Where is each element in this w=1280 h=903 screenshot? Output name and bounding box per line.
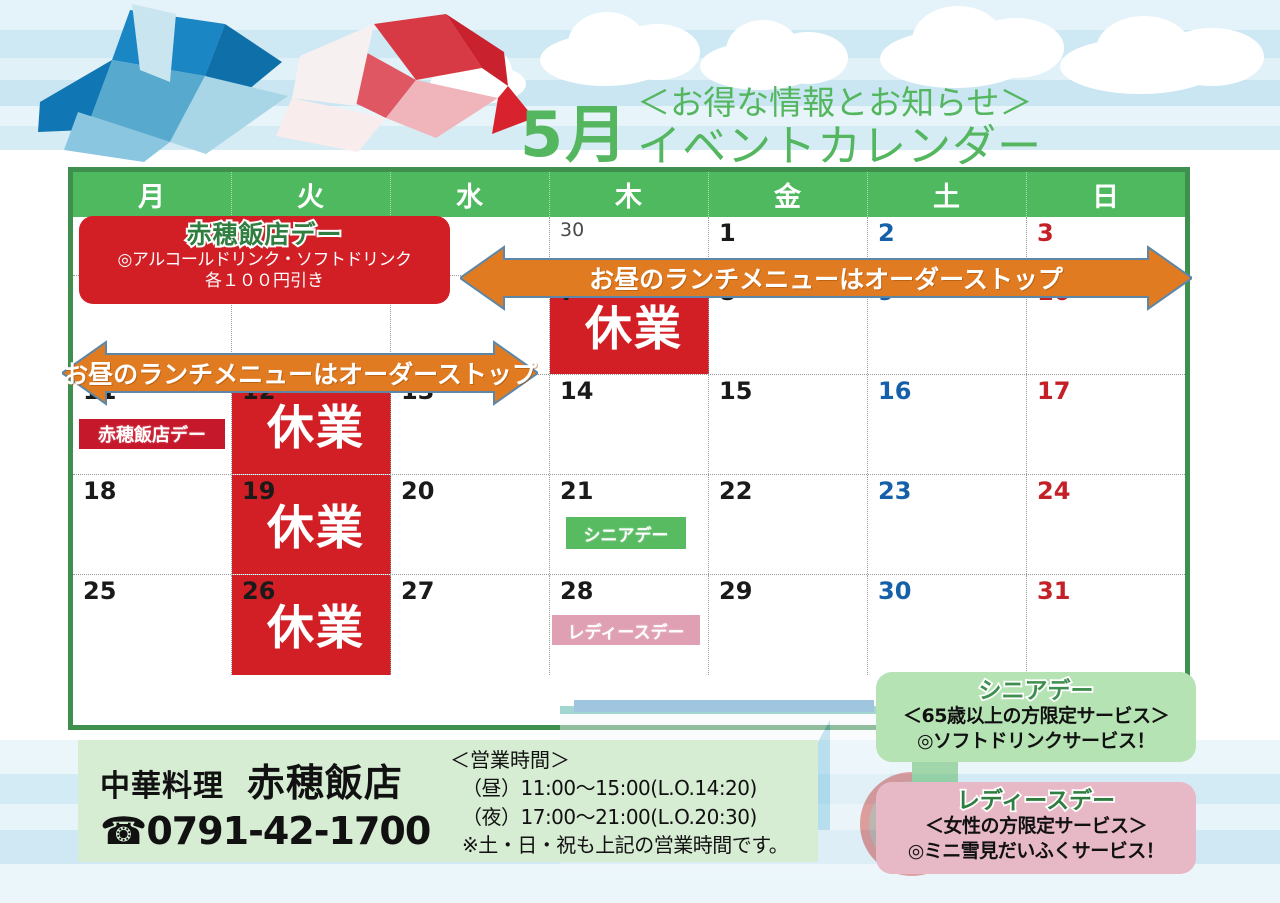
origami-decoration-red <box>236 10 536 160</box>
weekday-header-1: 火 <box>232 172 391 217</box>
hours-dinner: （夜）17:00～21:00(L.O.20:30) <box>450 803 788 831</box>
month-label: 5月 <box>520 104 629 166</box>
shop-genre: 中華料理 <box>100 769 224 804</box>
legend-title: シニアデー <box>876 678 1196 704</box>
day-number: 28 <box>560 579 708 603</box>
legend-line-1: ＜女性の方限定サービス＞ <box>876 814 1196 838</box>
calendar-day-24[interactable]: 24 <box>1027 475 1185 574</box>
legend-ladies-day: レディースデー ＜女性の方限定サービス＞ ◎ミニ雪見だいふくサービス！ <box>876 782 1196 874</box>
legend-line-1: ＜65歳以上の方限定サービス＞ <box>876 704 1196 728</box>
weekday-header-2: 水 <box>391 172 550 217</box>
shop-name-block: 中華料理 赤穂飯店 ☎0791-42-1700 <box>100 752 430 853</box>
hours-lunch: （昼）11:00～15:00(L.O.14:20) <box>450 774 788 802</box>
calendar-day-29[interactable]: 29 <box>709 575 868 675</box>
hours-note: ※土・日・祝も上記の営業時間です。 <box>450 831 788 859</box>
day-number: 23 <box>878 479 1026 503</box>
shop-phone[interactable]: ☎0791-42-1700 <box>100 809 430 853</box>
shop-info-box: 中華料理 赤穂飯店 ☎0791-42-1700 ＜営業時間＞ （昼）11:00～… <box>78 740 818 862</box>
business-hours-block: ＜営業時間＞ （昼）11:00～15:00(L.O.14:20) （夜）17:0… <box>450 746 788 860</box>
calendar-day-15[interactable]: 15 <box>709 375 868 474</box>
day-number: 1 <box>719 221 867 245</box>
day-number: 18 <box>83 479 231 503</box>
calendar-day-18[interactable]: 18 <box>73 475 232 574</box>
promo-line-1: ◎アルコールドリンク・ソフトドリンク <box>79 250 450 271</box>
calendar-day-31[interactable]: 31 <box>1027 575 1185 675</box>
calendar-day-27[interactable]: 27 <box>391 575 550 675</box>
day-number: 30 <box>878 579 1026 603</box>
weekday-header-3: 木 <box>550 172 709 217</box>
day-number: 25 <box>83 579 231 603</box>
shop-name: 赤穂飯店 <box>247 761 403 805</box>
day-number: 26 <box>242 579 390 603</box>
day-number: 3 <box>1037 221 1185 245</box>
weekday-header-row: 月火水木金土日 <box>73 172 1185 217</box>
weekday-header-5: 土 <box>868 172 1027 217</box>
day-number: 20 <box>401 479 549 503</box>
day-number: 27 <box>401 579 549 603</box>
calendar-week-row: 2526休業2728レディースデー293031 <box>73 575 1185 675</box>
closed-label: 休業 <box>242 605 390 652</box>
weekday-header-0: 月 <box>73 172 232 217</box>
day-number: 15 <box>719 379 867 403</box>
calendar-day-14[interactable]: 14 <box>550 375 709 474</box>
day-number: 19 <box>242 479 390 503</box>
closed-label: 休業 <box>242 505 390 552</box>
calendar-week-row: 1819休業2021シニアデー222324 <box>73 475 1185 575</box>
day-number: 22 <box>719 479 867 503</box>
day-number: 14 <box>560 379 708 403</box>
promo-title: 赤穂飯店デー <box>79 221 450 250</box>
arrow-label: お昼のランチメニューはオーダーストップ <box>62 340 538 406</box>
calendar-day-25[interactable]: 25 <box>73 575 232 675</box>
legend-line-2: ◎ミニ雪見だいふくサービス！ <box>876 839 1196 863</box>
day-number: 30 <box>560 221 708 240</box>
senior-day-tag[interactable]: シニアデー <box>566 517 686 549</box>
shop-name-line: 中華料理 赤穂飯店 <box>100 752 430 807</box>
calendar-day-16[interactable]: 16 <box>868 375 1027 474</box>
calendar-day-23[interactable]: 23 <box>868 475 1027 574</box>
ladies-day-tag[interactable]: レディースデー <box>552 615 700 645</box>
title-main: イベントカレンダー <box>637 123 1042 171</box>
page-title: 5月 ＜お得な情報とお知らせ＞ イベントカレンダー <box>520 86 1042 171</box>
day-number: 21 <box>560 479 708 503</box>
day-number: 17 <box>1037 379 1185 403</box>
calendar-day-21[interactable]: 21シニアデー <box>550 475 709 574</box>
lunch-order-stop-arrow-week2: お昼のランチメニューはオーダーストップ <box>62 340 538 406</box>
day-number: 2 <box>878 221 1026 245</box>
calendar-day-28[interactable]: 28レディースデー <box>550 575 709 675</box>
closed-label: 休業 <box>242 405 390 452</box>
legend-title: レディースデー <box>876 788 1196 814</box>
promo-line-2: 各１００円引き <box>79 271 450 292</box>
weekday-header-6: 日 <box>1027 172 1185 217</box>
calendar-day-22[interactable]: 22 <box>709 475 868 574</box>
lunch-order-stop-arrow-top: お昼のランチメニューはオーダーストップ <box>460 245 1192 311</box>
title-subtitle: ＜お得な情報とお知らせ＞ <box>637 86 1042 121</box>
calendar-day-17[interactable]: 17 <box>1027 375 1185 474</box>
legend-line-2: ◎ソフトドリンクサービス！ <box>876 729 1196 753</box>
weekday-header-4: 金 <box>709 172 868 217</box>
day-number: 29 <box>719 579 867 603</box>
ako-day-tag[interactable]: 赤穂飯店デー <box>79 419 225 449</box>
calendar-day-26[interactable]: 26休業 <box>232 575 391 675</box>
legend-senior-day: シニアデー ＜65歳以上の方限定サービス＞ ◎ソフトドリンクサービス！ <box>876 672 1196 762</box>
hours-heading: ＜営業時間＞ <box>450 746 788 774</box>
calendar-day-19[interactable]: 19休業 <box>232 475 391 574</box>
arrow-label: お昼のランチメニューはオーダーストップ <box>460 245 1192 311</box>
closed-label: 休業 <box>560 306 708 353</box>
day-number: 31 <box>1037 579 1185 603</box>
ako-hanten-day-promo-banner: 赤穂飯店デー ◎アルコールドリンク・ソフトドリンク 各１００円引き <box>79 216 450 304</box>
calendar-day-20[interactable]: 20 <box>391 475 550 574</box>
day-number: 24 <box>1037 479 1185 503</box>
calendar-day-30[interactable]: 30 <box>868 575 1027 675</box>
day-number: 16 <box>878 379 1026 403</box>
